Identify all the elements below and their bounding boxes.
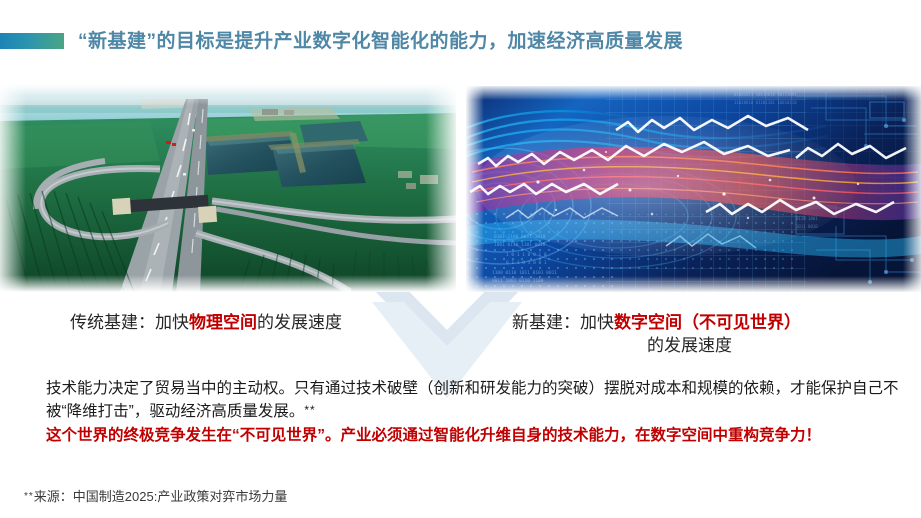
svg-text:0 1 1 0 1 0 0 1: 0 1 1 0 1 0 0 1 (506, 260, 547, 266)
caption-left-suffix: 的发展速度 (257, 313, 342, 332)
traditional-infrastructure-image (0, 83, 456, 292)
footnote-source: **来源：中国制造2025:产业政策对弈市场力量 (24, 486, 287, 505)
footnote-text: 来源：中国制造2025:产业政策对弈市场力量 (34, 489, 288, 504)
caption-left-prefix: 传统基建：加快 (70, 313, 189, 332)
svg-text:1100 0110 1011 0101 0011: 1100 0110 1011 0101 0011 (492, 270, 557, 276)
caption-right-suffix: 的发展速度 (512, 335, 867, 358)
footnote-marker: ** (24, 491, 34, 502)
emphasis-paragraph: 这个世界的终极竞争发生在“不可见世界”。产业必须通过智能化升维自身的技术能力，在… (46, 424, 908, 447)
caption-traditional-infrastructure: 传统基建：加快物理空间的发展速度 (70, 312, 470, 335)
body-paragraph-text: 技术能力决定了贸易当中的主动权。只有通过技术破壁（创新和研发能力的突破）摆脱对成… (46, 380, 899, 420)
caption-right-highlight: 数字空间（不可见世界） (614, 313, 801, 332)
svg-text:1 0 1 1 0 0 1 0: 1 0 1 1 0 0 1 0 (506, 252, 547, 258)
caption-new-infrastructure: 新基建：加快数字空间（不可见世界）的发展速度 (512, 312, 912, 358)
svg-text:11010010 01101101 10010110: 11010010 01101101 10010110 (734, 100, 797, 105)
new-infrastructure-image: 0101 1100 0011 1010 1001 0110 1101 0010 … (466, 86, 921, 292)
title-accent-bar (0, 33, 64, 49)
caption-left-highlight: 物理空间 (189, 313, 257, 332)
caption-right-prefix: 新基建：加快 (512, 313, 614, 332)
svg-text:1001 0110 1101 0010: 1001 0110 1101 0010 (494, 242, 546, 248)
body-paragraph: 技术能力决定了贸易当中的主动权。只有通过技术破壁（创新和研发能力的突破）摆脱对成… (46, 377, 908, 424)
body-paragraph-footnote-marker: ** (304, 403, 315, 417)
page-title: “新基建”的目标是提升产业数字化智能化的能力，加速经济高质量发展 (78, 26, 898, 53)
